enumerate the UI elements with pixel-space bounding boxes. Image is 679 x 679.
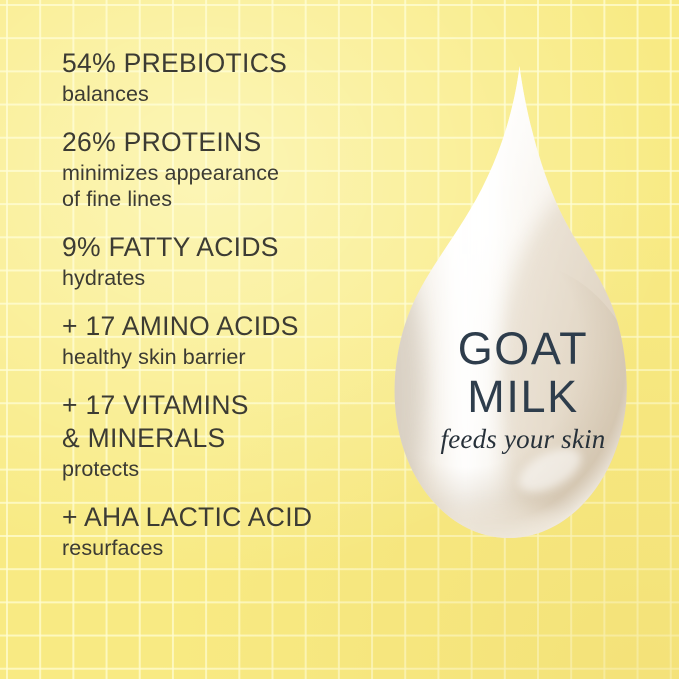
ingredient-title: + 17 AMINO ACIDS (62, 310, 382, 343)
ingredient-description: minimizes appearance of fine lines (62, 160, 382, 212)
ingredient-item: 26% PROTEINS minimizes appearance of fin… (62, 126, 382, 212)
ingredient-list: 54% PREBIOTICS balances 26% PROTEINS min… (62, 47, 382, 580)
ingredient-item: 54% PREBIOTICS balances (62, 47, 382, 107)
ingredient-description: protects (62, 456, 382, 482)
droplet-bottom-rim-light (383, 254, 635, 546)
poster-canvas: 54% PREBIOTICS balances 26% PROTEINS min… (0, 0, 679, 679)
ingredient-title: 9% FATTY ACIDS (62, 231, 382, 264)
milk-droplet-icon (378, 52, 668, 562)
ingredient-item: + 17 AMINO ACIDS healthy skin barrier (62, 310, 382, 370)
ingredient-title: + 17 VITAMINS & MINERALS (62, 389, 382, 455)
ingredient-item: + 17 VITAMINS & MINERALS protects (62, 389, 382, 482)
ingredient-title: 54% PREBIOTICS (62, 47, 382, 80)
ingredient-description: balances (62, 81, 382, 107)
ingredient-item: + AHA LACTIC ACID resurfaces (62, 501, 382, 561)
ingredient-description: hydrates (62, 265, 382, 291)
ingredient-description: resurfaces (62, 535, 382, 561)
milk-droplet: GOAT MILK feeds your skin (378, 52, 668, 562)
ingredient-item: 9% FATTY ACIDS hydrates (62, 231, 382, 291)
ingredient-title: + AHA LACTIC ACID (62, 501, 382, 534)
ingredient-description: healthy skin barrier (62, 344, 382, 370)
ingredient-title: 26% PROTEINS (62, 126, 382, 159)
droplet-bottom-reflection (428, 506, 568, 546)
